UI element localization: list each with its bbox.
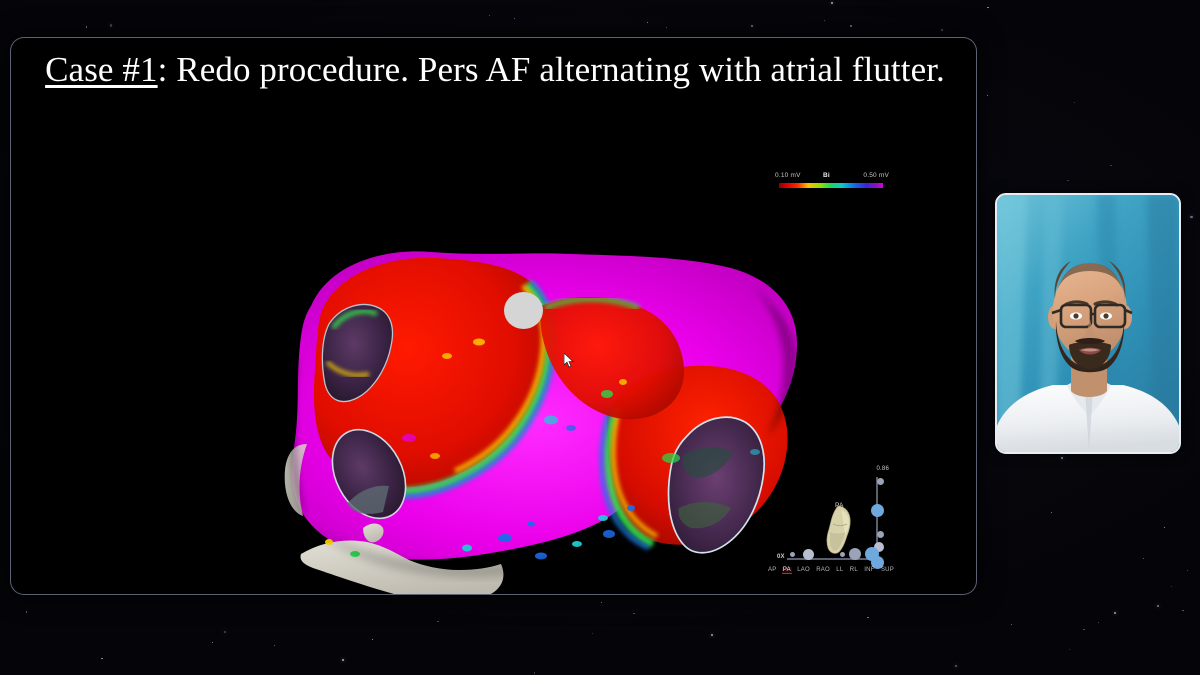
star-particle [1182, 610, 1183, 611]
presentation-stage: Case #1: Redo procedure. Pers AF alterna… [0, 0, 1200, 675]
view-preset-pa[interactable]: PA [782, 567, 792, 574]
orientation-nav-widget[interactable]: 0.86 PA 0X AP PA LA [763, 466, 895, 582]
heart-model-icon[interactable] [821, 504, 855, 556]
slide-title-prefix: Case #1 [45, 50, 158, 89]
slide-title: Case #1: Redo procedure. Pers AF alterna… [45, 49, 945, 90]
star-particle [941, 29, 943, 31]
star-particle [666, 27, 667, 28]
star-particle [647, 22, 648, 23]
view-preset-sup[interactable]: SUP [880, 567, 895, 574]
color-scale-labels: 0.10 mV Bi 0.50 mV [773, 172, 891, 182]
map-highlight-marker [504, 292, 543, 329]
color-scale-max-label: 0.50 mV [863, 172, 889, 179]
star-particle [1061, 457, 1063, 459]
star-particle [831, 2, 833, 4]
view-reset-dial[interactable] [865, 547, 879, 561]
star-particle [1187, 570, 1188, 571]
zoom-level-value: 0.86 [877, 466, 889, 472]
pupil-left [1073, 313, 1078, 318]
presenter-video-feed [997, 195, 1179, 452]
star-particle [987, 95, 988, 96]
star-particle [751, 25, 753, 27]
star-particle [437, 621, 438, 622]
star-particle [1074, 102, 1075, 103]
star-particle [850, 25, 851, 26]
star-particle [224, 631, 226, 633]
star-particle [1067, 180, 1068, 181]
star-particle [1164, 527, 1165, 528]
star-particle [987, 7, 988, 8]
star-particle [101, 658, 102, 659]
star-particle [1051, 512, 1052, 513]
star-particle [1110, 165, 1111, 166]
bipolar-color-scale: 0.10 mV Bi 0.50 mV [773, 172, 891, 196]
view-preset-ll[interactable]: LL [835, 567, 844, 574]
slide-title-rest: : Redo procedure. Pers AF alternating wi… [158, 50, 945, 89]
rotation-tick-left[interactable] [790, 552, 795, 557]
star-particle [592, 633, 593, 634]
origin-label: 0X [777, 554, 785, 560]
pupil-right [1103, 313, 1108, 318]
star-particle [601, 602, 602, 603]
mouse-cursor-icon [564, 353, 575, 368]
view-preset-row[interactable]: AP PA LAO RAO LL RL INF SUP [767, 567, 895, 574]
star-particle [711, 634, 713, 636]
zoom-slider-handle[interactable] [871, 504, 884, 517]
star-particle [1114, 612, 1116, 614]
star-particle [274, 645, 275, 646]
view-preset-rl[interactable]: RL [849, 567, 859, 574]
color-scale-mid-label: Bi [823, 172, 830, 179]
star-particle [1157, 605, 1159, 607]
slide-card: Case #1: Redo procedure. Pers AF alterna… [10, 37, 977, 595]
star-particle [867, 617, 868, 618]
rotation-dial[interactable] [849, 548, 861, 560]
view-preset-inf[interactable]: INF [863, 567, 875, 574]
star-particle [489, 15, 490, 16]
rotation-slider-handle[interactable] [803, 549, 814, 560]
star-particle [824, 20, 825, 21]
star-particle [1011, 624, 1012, 625]
star-particle [1143, 558, 1144, 559]
presenter-webcam-panel[interactable] [995, 193, 1181, 454]
star-particle [1098, 622, 1099, 623]
star-particle [1083, 629, 1084, 630]
color-scale-min-label: 0.10 mV [775, 172, 801, 179]
rotation-tick-right[interactable] [840, 552, 845, 557]
zoom-slider-tick-mid[interactable] [877, 531, 884, 538]
star-particle [342, 659, 344, 661]
view-preset-ap[interactable]: AP [767, 567, 777, 574]
star-particle [110, 24, 112, 26]
zoom-slider-tick-top[interactable] [877, 478, 884, 485]
star-particle [514, 18, 515, 19]
star-particle [1069, 649, 1070, 650]
star-particle [212, 642, 213, 643]
color-scale-gradient-bar [779, 183, 883, 188]
star-particle [372, 639, 373, 640]
star-particle [1171, 586, 1172, 587]
view-preset-rao[interactable]: RAO [815, 567, 831, 574]
star-particle [26, 611, 27, 612]
view-preset-lao[interactable]: LAO [796, 567, 811, 574]
star-particle [633, 613, 634, 614]
star-particle [86, 26, 87, 27]
star-particle [534, 672, 535, 673]
star-particle [955, 665, 957, 667]
star-particle [1190, 216, 1192, 218]
